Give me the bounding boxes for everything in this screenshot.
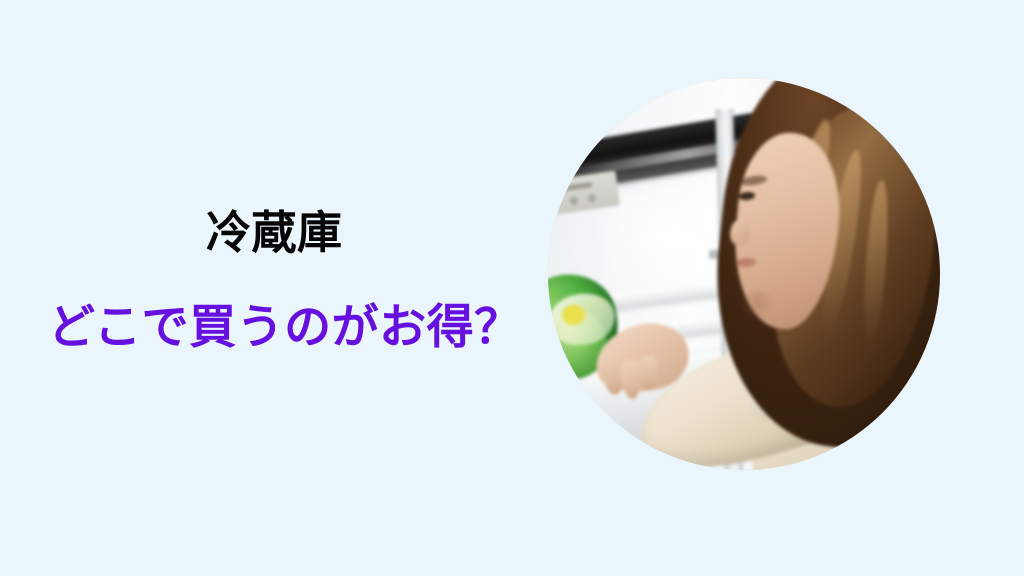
woman-nose	[729, 218, 750, 247]
hero-photo-image	[548, 78, 940, 470]
page-subtitle: どこで買うのがお得？	[48, 303, 522, 352]
page-title: 冷蔵庫	[206, 209, 343, 256]
vegetable-label	[562, 305, 586, 325]
woman-chin-shadow	[740, 290, 775, 321]
slide-canvas: 冷蔵庫 どこで買うのがお得？	[0, 0, 1024, 576]
hero-photo-circle	[548, 78, 940, 470]
text-block: 冷蔵庫 どこで買うのがお得？	[0, 0, 548, 576]
